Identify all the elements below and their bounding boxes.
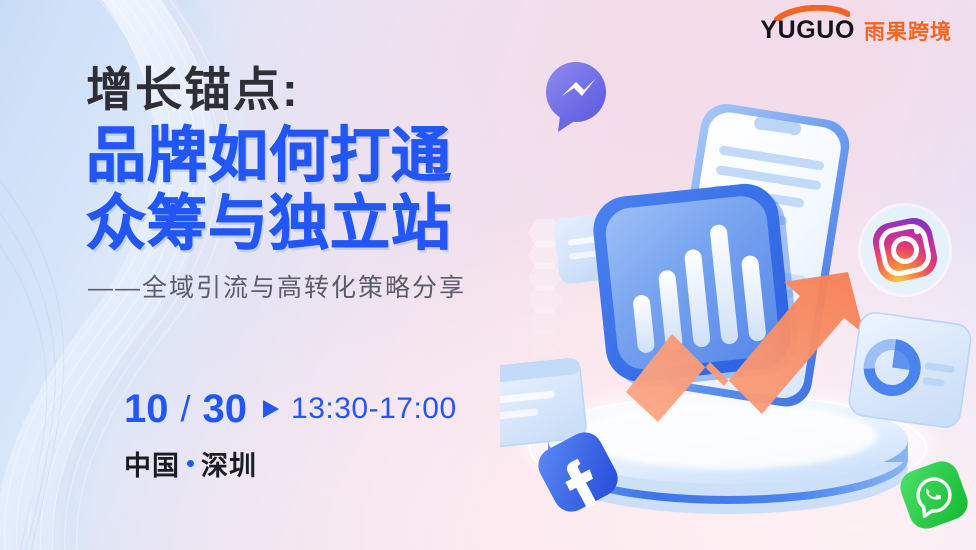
podium-glow [523, 388, 933, 500]
podium [548, 396, 908, 514]
location-country: 中国 [124, 444, 180, 483]
small-card-left [500, 358, 587, 450]
bar-chart-card [590, 180, 801, 391]
event-time-range: 13:30-17:00 [291, 394, 457, 424]
headline-line-1: 增长锚点: [86, 64, 516, 117]
event-details: 10 / 30 13:30-17:00 中国 深圳 [124, 388, 457, 483]
logo-text-cn: 雨果跨境 [864, 22, 952, 43]
headline-subtitle: ——全域引流与高转化策略分享 [88, 273, 516, 303]
headline-block: 增长锚点: 品牌如何打通 众筹与独立站 ——全域引流与高转化策略分享 [86, 64, 516, 303]
logo-text-en: YUGUO [760, 16, 855, 44]
headline-line-3: 众筹与独立站 [86, 191, 516, 257]
headline-line-2: 品牌如何打通 [86, 123, 516, 189]
play-triangle-icon [263, 400, 279, 418]
instagram-icon [858, 203, 952, 297]
date-separator: / [181, 388, 191, 430]
growth-arrow-icon [626, 272, 864, 422]
illustration [500, 0, 976, 550]
brand-logo[interactable]: YUGUO 雨果跨境 [760, 18, 952, 43]
whatsapp-icon [896, 457, 973, 534]
event-day: 30 [203, 389, 248, 429]
donut-chart-card [847, 311, 972, 430]
promo-banner: YUGUO 雨果跨境 增长锚点: 品牌如何打通 众筹与独立站 ——全域引流与高转… [0, 0, 976, 550]
logo-wordmark: YUGUO [760, 18, 855, 43]
facebook-icon [532, 426, 625, 520]
podium-outer-ring [530, 395, 926, 501]
event-month: 10 [124, 389, 169, 429]
location-city: 深圳 [201, 444, 257, 483]
location-separator-dot-icon [187, 460, 194, 467]
smartphone-mockup [659, 100, 853, 410]
event-date-row: 10 / 30 13:30-17:00 [124, 388, 457, 430]
bar-chart-bars [626, 221, 767, 354]
messenger-icon [546, 62, 606, 132]
event-location-row: 中国 深圳 [124, 444, 457, 483]
small-card-mid [553, 208, 656, 285]
hexagon-pattern [524, 218, 568, 368]
